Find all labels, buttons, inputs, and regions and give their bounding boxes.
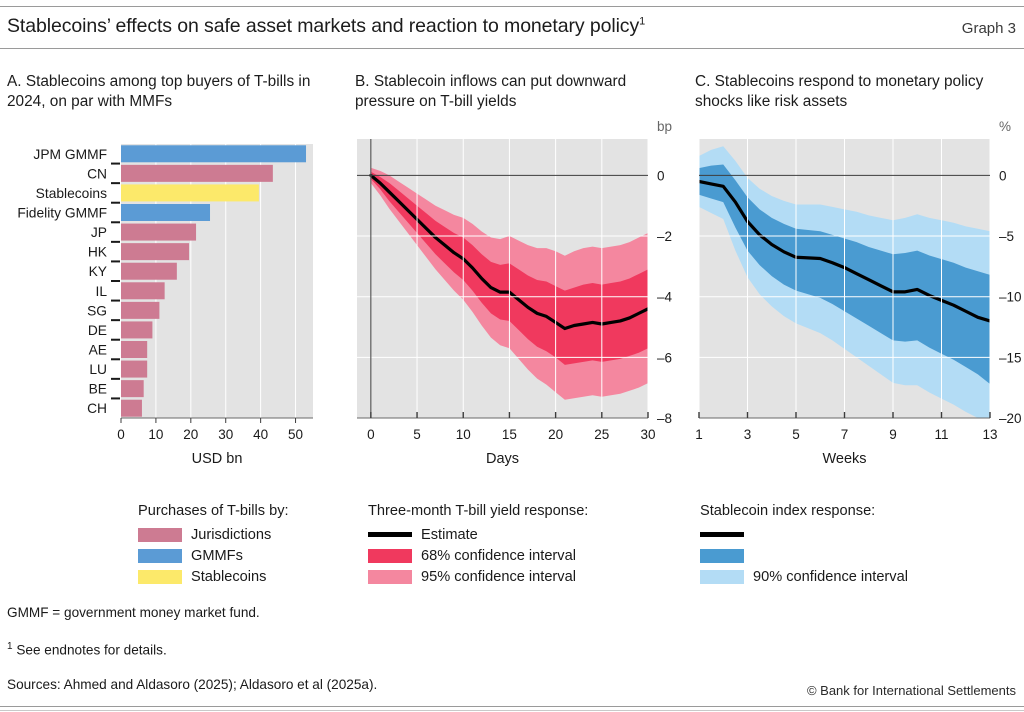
x-tick-label: 50 <box>288 427 303 442</box>
graph-page: Stablecoins’ effects on safe asset marke… <box>0 0 1024 712</box>
title-footnote-marker: 1 <box>639 16 645 28</box>
bar <box>121 380 144 397</box>
footnote-abbrev: GMMF = government money market fund. <box>7 605 260 620</box>
x-tick-label: 10 <box>148 427 163 442</box>
y-tick-label: –5 <box>999 229 1014 244</box>
legend-item: GMMFs <box>138 545 289 566</box>
x-tick-label: 3 <box>744 427 752 442</box>
bottom-rule-2 <box>0 710 1024 711</box>
footnote-marker: 1 <box>7 641 13 652</box>
category-label: KY <box>89 264 107 279</box>
legend-color-swatch <box>368 549 412 563</box>
legend-item <box>700 524 908 545</box>
footnote-note: 1 See endnotes for details. <box>7 641 167 658</box>
y-tick-label: –4 <box>657 290 673 305</box>
x-tick-label: 0 <box>117 427 125 442</box>
category-label: IL <box>95 284 107 299</box>
panel-c: C. Stablecoins respond to monetary polic… <box>685 60 1024 490</box>
category-label: AE <box>89 343 107 358</box>
legend-line-swatch <box>700 532 744 537</box>
bar <box>121 224 196 241</box>
legend-item-label: GMMFs <box>191 548 243 564</box>
legend-item-label: Jurisdictions <box>191 527 271 543</box>
category-tick <box>111 202 120 204</box>
x-tick-label: 10 <box>456 427 471 442</box>
category-label: LU <box>89 362 107 377</box>
category-label: CN <box>87 166 107 181</box>
legend-item-label: Stablecoins <box>191 569 266 585</box>
x-axis-caption: USD bn <box>192 451 243 467</box>
y-tick-label: –2 <box>657 229 672 244</box>
y-axis-unit-label: bp <box>657 119 672 134</box>
footnote-sources: Sources: Ahmed and Aldasoro (2025); Alda… <box>7 677 377 692</box>
category-tick <box>111 163 120 165</box>
graph-number: Graph 3 <box>962 20 1016 37</box>
legend-item: 95% confidence interval <box>368 566 588 587</box>
category-tick <box>111 241 120 243</box>
bar <box>121 341 147 358</box>
legend-panel-c: Stablecoin index response: 90% confidenc… <box>700 503 908 587</box>
panel-a-chart: JPM GMMFCNStablecoinsFidelity GMMFJPHKKY… <box>0 60 345 490</box>
y-tick-label: –20 <box>999 411 1022 426</box>
category-tick <box>111 397 120 399</box>
legend-color-swatch <box>700 570 744 584</box>
panel-c-chart: 0–5–10–15–20135791113%Weeks <box>685 60 1024 490</box>
legend-item: Jurisdictions <box>138 524 289 545</box>
legend-color-swatch <box>138 570 182 584</box>
x-axis-caption: Weeks <box>822 451 866 467</box>
legend-color-swatch <box>368 570 412 584</box>
bar <box>121 263 177 280</box>
legend-c-rows: 90% confidence interval <box>700 524 908 587</box>
top-rule <box>0 6 1024 7</box>
category-label: DE <box>88 323 107 338</box>
legend-item-label: 95% confidence interval <box>421 569 576 585</box>
x-tick-label: 13 <box>982 427 997 442</box>
category-tick <box>111 319 120 321</box>
legend-item: 90% confidence interval <box>700 566 908 587</box>
panel-b-chart: 0–2–4–6–8051015202530bpDays <box>345 60 685 490</box>
panel-a-title: A. Stablecoins among top buyers of T-bil… <box>7 72 339 112</box>
legend-item: 68% confidence interval <box>368 545 588 566</box>
x-tick-label: 9 <box>889 427 897 442</box>
legend-c-title: Stablecoin index response: <box>700 503 908 519</box>
x-tick-label: 5 <box>413 427 421 442</box>
bar <box>121 321 152 338</box>
legend-a-rows: JurisdictionsGMMFsStablecoins <box>138 524 289 587</box>
category-tick <box>111 260 120 262</box>
legend-item-label: 68% confidence interval <box>421 548 576 564</box>
category-label: HK <box>88 245 108 260</box>
category-label: Stablecoins <box>36 186 107 201</box>
category-tick <box>111 378 120 380</box>
legend-color-swatch <box>700 549 744 563</box>
x-axis-caption: Days <box>486 451 519 467</box>
panel-c-title: C. Stablecoins respond to monetary polic… <box>695 72 1018 112</box>
page-title: Stablecoins’ effects on safe asset marke… <box>7 15 645 38</box>
category-tick <box>111 280 120 282</box>
category-label: Fidelity GMMF <box>17 206 107 221</box>
x-tick-label: 15 <box>502 427 517 442</box>
bar <box>121 282 165 299</box>
x-tick-label: 11 <box>934 427 948 442</box>
y-tick-label: –8 <box>657 411 672 426</box>
footnote-note-text: See endnotes for details. <box>16 643 166 658</box>
title-rule <box>0 48 1024 49</box>
legend-b-title: Three-month T-bill yield response: <box>368 503 588 519</box>
category-label: SG <box>87 303 107 318</box>
legend-panel-a: Purchases of T-bills by: JurisdictionsGM… <box>138 503 289 587</box>
category-label: JPM GMMF <box>33 147 107 162</box>
legend-item: Estimate <box>368 524 588 545</box>
y-tick-label: 0 <box>657 168 665 183</box>
page-title-text: Stablecoins’ effects on safe asset marke… <box>7 15 639 37</box>
bar <box>121 243 189 260</box>
x-tick-label: 1 <box>695 427 703 442</box>
bar <box>121 400 142 417</box>
bar <box>121 145 306 162</box>
y-tick-label: –15 <box>999 350 1022 365</box>
category-tick <box>111 221 120 223</box>
x-tick-label: 30 <box>640 427 655 442</box>
legend-line-swatch <box>368 532 412 537</box>
x-tick-label: 7 <box>841 427 849 442</box>
x-tick-label: 20 <box>183 427 198 442</box>
legend-item-label: Estimate <box>421 527 478 543</box>
y-tick-label: –10 <box>999 290 1022 305</box>
copyright: © Bank for International Settlements <box>807 683 1016 698</box>
bar <box>121 302 159 319</box>
y-axis-unit-label: % <box>999 119 1011 134</box>
legend-item <box>700 545 908 566</box>
bottom-rule <box>0 706 1024 707</box>
panel-a: A. Stablecoins among top buyers of T-bil… <box>0 60 345 490</box>
legend-a-title: Purchases of T-bills by: <box>138 503 289 519</box>
category-label: CH <box>87 401 107 416</box>
bar <box>121 361 147 378</box>
category-tick <box>111 182 120 184</box>
x-tick-label: 5 <box>792 427 800 442</box>
bar <box>121 184 259 201</box>
legend-b-rows: Estimate68% confidence interval95% confi… <box>368 524 588 587</box>
x-tick-label: 20 <box>548 427 563 442</box>
category-tick <box>111 339 120 341</box>
legend-item-label: 90% confidence interval <box>753 569 908 585</box>
x-tick-label: 0 <box>367 427 375 442</box>
y-tick-label: –6 <box>657 350 672 365</box>
bar <box>121 165 273 182</box>
x-tick-label: 40 <box>253 427 268 442</box>
x-tick-label: 30 <box>218 427 233 442</box>
category-label: BE <box>89 382 107 397</box>
category-tick <box>111 300 120 302</box>
panel-b: B. Stablecoin inflows can put downward p… <box>345 60 685 490</box>
panel-b-title: B. Stablecoin inflows can put downward p… <box>355 72 679 112</box>
legend-color-swatch <box>138 528 182 542</box>
y-tick-label: 0 <box>999 168 1007 183</box>
x-tick-label: 25 <box>594 427 609 442</box>
bar <box>121 204 210 221</box>
legend-panel-b: Three-month T-bill yield response: Estim… <box>368 503 588 587</box>
category-label: JP <box>91 225 107 240</box>
legend-item: Stablecoins <box>138 566 289 587</box>
category-tick <box>111 358 120 360</box>
legend-color-swatch <box>138 549 182 563</box>
